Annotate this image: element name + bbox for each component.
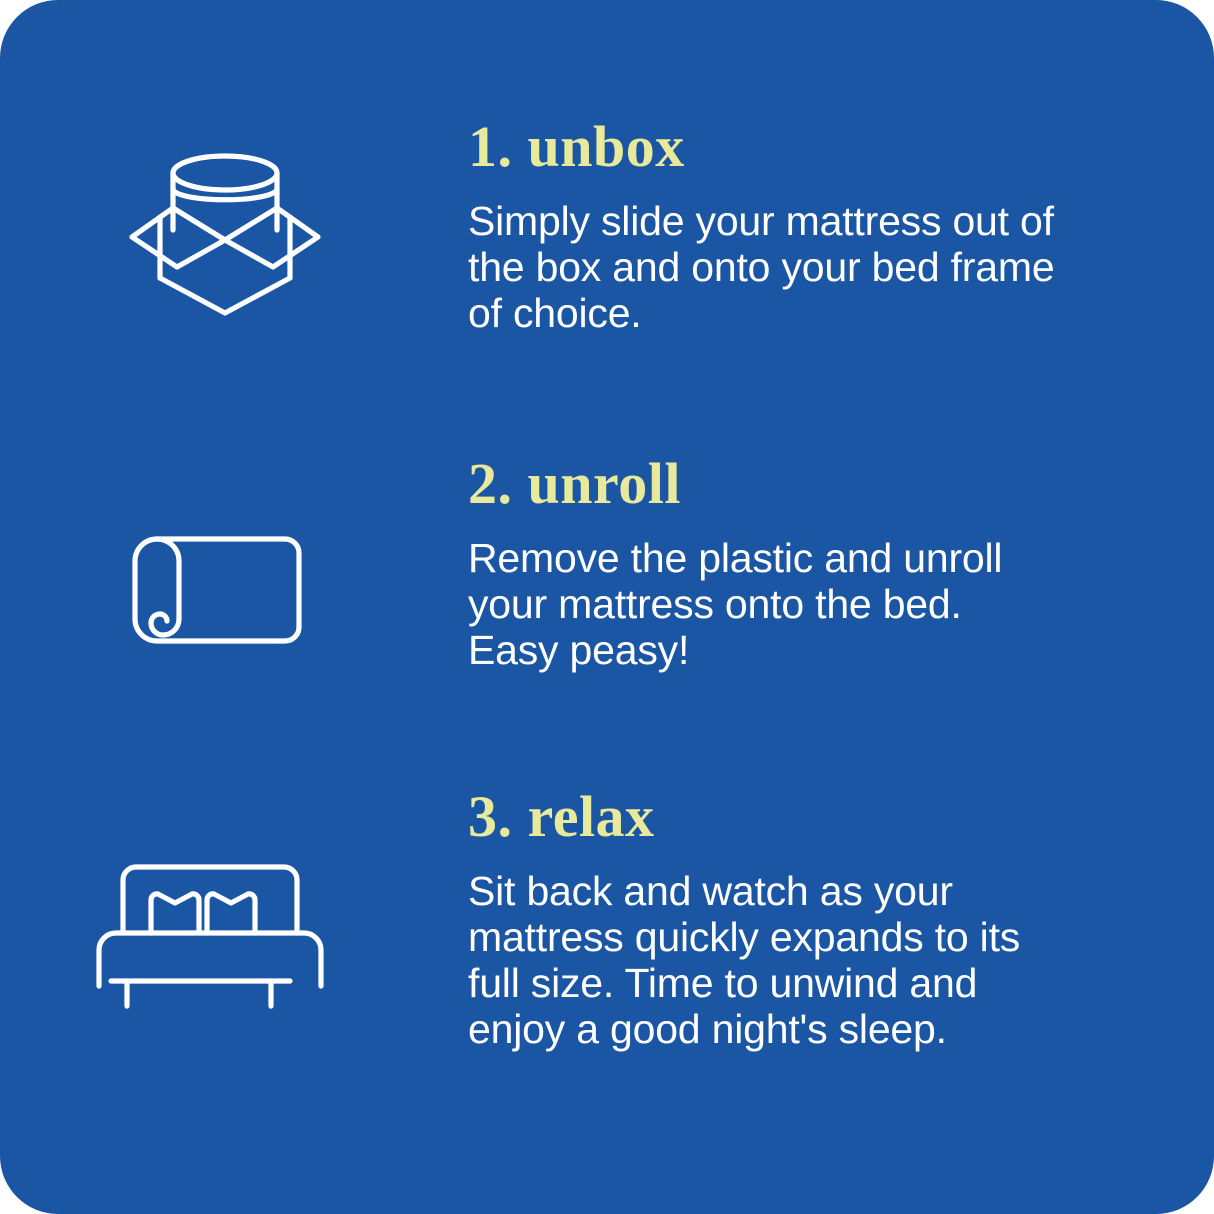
step-relax-body: Sit back and watch as your mattress quic… (468, 868, 1128, 1052)
body-line: your mattress onto the bed. (468, 581, 1118, 627)
step-relax: 3. relax Sit back and watch as your matt… (0, 0, 1214, 400)
step-unroll-body: Remove the plastic and unroll your mattr… (468, 535, 1118, 673)
step-relax-heading: 3. relax (468, 788, 1128, 846)
step-unroll-heading: 2. unroll (468, 455, 1118, 513)
body-line: mattress quickly expands to its (468, 914, 1128, 960)
infographic-card: 1. unbox Simply slide your mattress out … (0, 0, 1214, 1214)
body-line: Remove the plastic and unroll (468, 535, 1118, 581)
body-line: full size. Time to unwind and (468, 960, 1128, 1006)
bed-with-pillows-icon (85, 858, 335, 1023)
step-relax-text: 3. relax Sit back and watch as your matt… (468, 788, 1128, 1052)
body-line: enjoy a good night's sleep. (468, 1006, 1128, 1052)
body-line: Sit back and watch as your (468, 868, 1128, 914)
step-unroll-text: 2. unroll Remove the plastic and unroll … (468, 455, 1118, 673)
rolled-mattress-unrolling-icon (110, 515, 330, 675)
body-line: Easy peasy! (468, 627, 1118, 673)
steps-list: 1. unbox Simply slide your mattress out … (0, 0, 1214, 1214)
